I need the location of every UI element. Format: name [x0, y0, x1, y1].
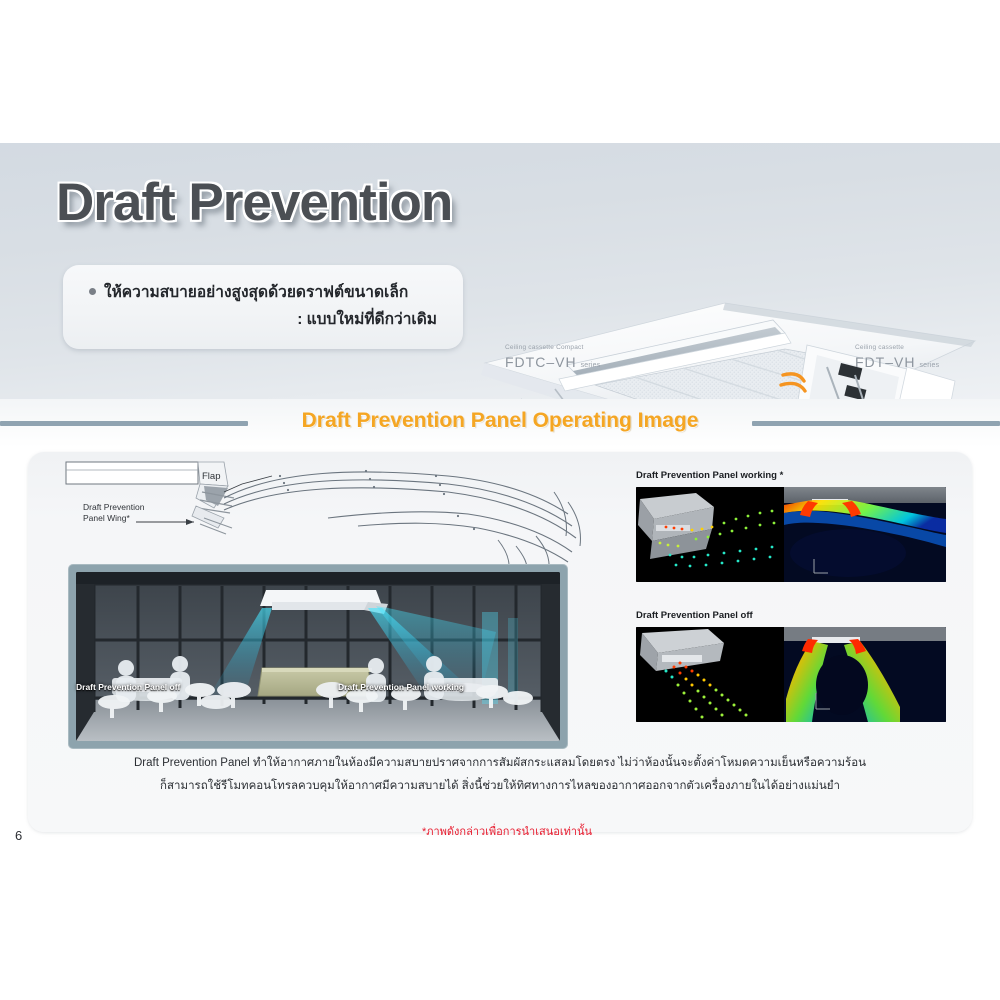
slide-page: Draft Prevention ให้ความสบายอย่างสูงสุดด… — [0, 0, 1000, 1000]
office-room-render — [68, 564, 568, 749]
section-heading-bar: Draft Prevention Panel Operating Image — [0, 399, 1000, 447]
body-copy-line-2: ก็สามารถใช้รีโมทคอนโทรลควบคุมให้อากาศมีค… — [48, 775, 952, 798]
thermal-caption-off: Draft Prevention Panel off — [636, 610, 946, 621]
wing-label: Draft Prevention Panel Wing* — [83, 502, 144, 524]
cfd-image-working — [636, 487, 946, 582]
office-caption-off: Draft Prevention Panel off — [76, 682, 180, 692]
section-heading-text: Draft Prevention Panel Operating Image — [0, 409, 1000, 433]
body-copy: Draft Prevention Panel ทำให้อากาศภายในห้… — [48, 752, 952, 798]
callout-line-2: : แบบใหม่ที่ดีกว่าเดิม — [63, 306, 437, 333]
flap-label: Flap — [202, 471, 220, 482]
product-model-label: FDT–VH — [855, 354, 915, 370]
product-model-label: FDTC–VH — [505, 354, 577, 370]
body-copy-line-1: Draft Prevention Panel ทำให้อากาศภายในห้… — [48, 752, 952, 775]
office-scene-illustration — [76, 572, 560, 741]
page-number: 6 — [15, 828, 22, 843]
hero-callout-box: ให้ความสบายอย่างสูงสุดด้วยดราฟต์ขนาดเล็ก… — [63, 265, 463, 349]
bullet-dot-icon — [89, 288, 96, 295]
footnote-disclaimer: *ภาพดังกล่าวเพื่อการนำเสนอเท่านั้น — [0, 822, 1000, 840]
callout-line-1: ให้ความสบายอย่างสูงสุดด้วยดราฟต์ขนาดเล็ก — [89, 279, 408, 306]
product-category-label: Ceiling cassette Compact — [505, 344, 600, 351]
thermal-caption-working: Draft Prevention Panel working * — [636, 470, 946, 481]
product-label-fdt: Ceiling cassette FDT–VHseries — [855, 344, 939, 372]
product-label-fdtc: Ceiling cassette Compact FDTC–VHseries — [505, 344, 600, 372]
cfd-image-off — [636, 627, 946, 722]
product-category-label: Ceiling cassette — [855, 344, 939, 351]
product-series-label: series — [581, 362, 601, 369]
thermal-block-off: Draft Prevention Panel off — [636, 610, 946, 722]
operating-image-panel: Flap Draft Prevention Panel Wing* — [28, 452, 972, 832]
office-caption-working: Draft Prevention Panel working — [338, 682, 464, 692]
page-title: Draft Prevention — [56, 172, 452, 233]
product-series-label: series — [919, 362, 939, 369]
thermal-block-working: Draft Prevention Panel working * — [636, 470, 946, 582]
office-room-scene — [76, 572, 560, 741]
